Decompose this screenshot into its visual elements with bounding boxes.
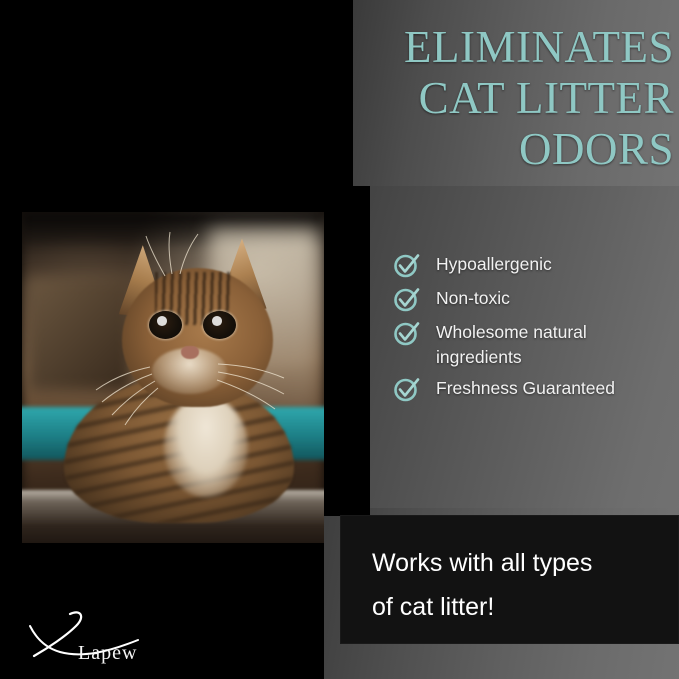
benefit-label: Hypoallergenic — [436, 252, 552, 277]
headline-line-1: ELIMINATES — [300, 22, 674, 73]
headline-line-2: CAT LITTER — [300, 73, 674, 124]
check-circle-icon — [392, 318, 422, 348]
benefit-label: Wholesome natural ingredients — [436, 320, 674, 370]
benefit-label: Non-toxic — [436, 286, 510, 311]
benefit-item: Wholesome natural ingredients — [392, 320, 674, 370]
logo-wordmark: Lapew — [78, 642, 137, 665]
benefits-list: Hypoallergenic Non-toxic Wholesome natur… — [392, 252, 674, 410]
callout-line-2: of cat litter! — [372, 585, 662, 629]
kitten-chest-fur — [164, 397, 249, 496]
kitten-nose — [181, 346, 199, 359]
headline: ELIMINATES CAT LITTER ODORS — [300, 22, 674, 175]
benefit-item: Non-toxic — [392, 286, 674, 314]
check-circle-icon — [392, 250, 422, 280]
benefit-item: Freshness Guaranteed — [392, 376, 674, 404]
callout-line-1: Works with all types — [372, 541, 662, 585]
callout-box: Works with all types of cat litter! — [340, 515, 679, 644]
kitten — [22, 212, 324, 543]
product-photo — [22, 212, 324, 543]
callout-corner-notch — [324, 500, 370, 516]
headline-line-3: ODORS — [300, 124, 674, 175]
callout-text: Works with all types of cat litter! — [372, 541, 662, 629]
product-infographic: ELIMINATES CAT LITTER ODORS — [0, 0, 679, 679]
brand-logo: Lapew — [26, 604, 156, 666]
benefit-label: Freshness Guaranteed — [436, 376, 615, 401]
check-circle-icon — [392, 374, 422, 404]
benefit-item: Hypoallergenic — [392, 252, 674, 280]
photo-scene — [22, 212, 324, 543]
check-circle-icon — [392, 284, 422, 314]
